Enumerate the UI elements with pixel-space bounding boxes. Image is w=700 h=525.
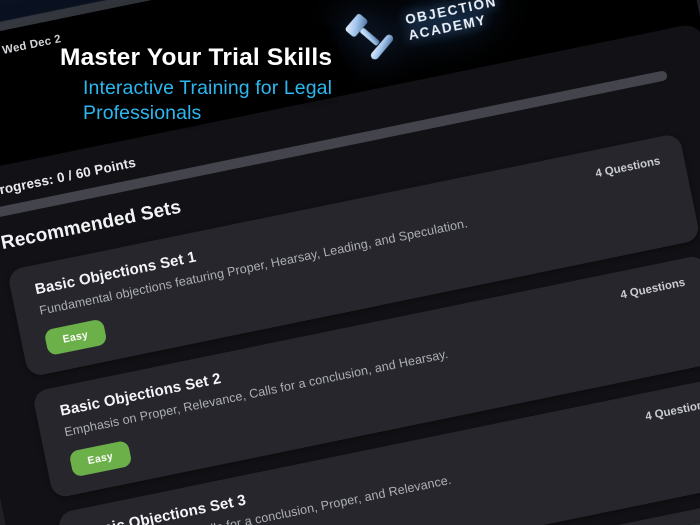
card-question-count: 4 Questions bbox=[644, 396, 700, 423]
brand-logo: OBJECTION ACADEMY bbox=[335, 0, 505, 70]
tablet-screen: 8:50 PM Wed Dec 2 bbox=[0, 0, 700, 525]
card-question-count: 4 Questions bbox=[619, 275, 686, 302]
objection-academy-app: 8:50 PM Wed Dec 2 bbox=[0, 0, 700, 525]
tablet-bezel: 8:50 PM Wed Dec 2 bbox=[0, 0, 700, 525]
brand-name: OBJECTION ACADEMY bbox=[404, 0, 502, 44]
card-title: Basic Objections Set 1 bbox=[34, 194, 465, 298]
card-question-count: 4 Questions bbox=[594, 153, 661, 180]
status-date: Wed Dec 2 bbox=[1, 33, 62, 57]
card-question-count: 4 Questions bbox=[669, 518, 700, 525]
gavel-icon bbox=[335, 2, 403, 70]
difficulty-badge: Easy bbox=[44, 319, 108, 356]
difficulty-badge: Easy bbox=[69, 440, 133, 477]
tablet-device: 8:50 PM Wed Dec 2 bbox=[0, 0, 700, 525]
